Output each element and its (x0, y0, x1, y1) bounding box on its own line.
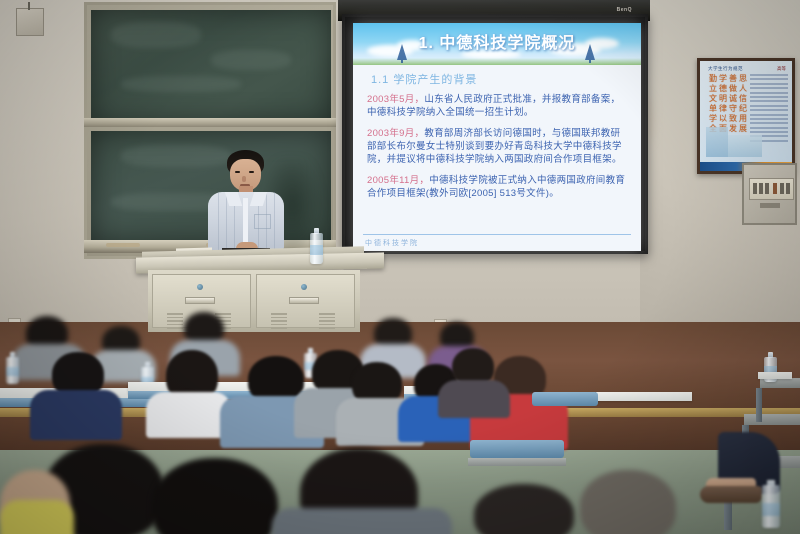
breaker-row (749, 178, 794, 200)
poster-heading-right: 高等 (777, 66, 786, 72)
blackboard-upper-panel (91, 10, 331, 123)
desk-surface (596, 392, 692, 401)
lock-icon (301, 284, 307, 290)
slide-body: 2003年5月，山东省人民政府正式批准，并报教育部备案，中德科技学院纳入全国统一… (367, 93, 629, 208)
poster-building-graphic (728, 135, 762, 157)
lectern-cabinet (148, 270, 360, 332)
chair-frame (468, 458, 566, 466)
door-handle[interactable] (185, 297, 215, 304)
foreground-head (580, 470, 676, 534)
lectern-door-right[interactable] (256, 274, 355, 328)
sandal (700, 486, 762, 503)
slide-divider (363, 234, 631, 235)
panel-label (760, 203, 780, 208)
foreground-torso (272, 508, 452, 534)
foreground-torso (0, 500, 74, 534)
blackboard-middle-rail (84, 118, 336, 127)
chair-back (470, 440, 564, 458)
poster-text-column (750, 74, 788, 144)
door-handle[interactable] (289, 297, 319, 304)
paragraph-date: 2003年9月， (367, 128, 424, 139)
classroom-photo: BenQ 1. 中德科技学院概况 1.1 学院产生的背景 2003年5月，山东省… (0, 0, 800, 534)
audience-torso (30, 390, 122, 440)
slide-banner: 1. 中德科技学院概况 (353, 23, 641, 65)
slide-footer: 中德科技学院 (365, 238, 419, 248)
presenter (200, 150, 292, 262)
desk-surface (744, 414, 800, 425)
paragraph-date: 2003年5月， (367, 94, 424, 105)
lock-icon (197, 284, 203, 290)
presenter-shirt-pocket (254, 214, 271, 229)
audience-torso (438, 380, 510, 418)
slide-paragraph: 2003年5月，山东省人民政府正式批准，并报教育部备案，中德科技学院纳入全国统一… (367, 93, 629, 119)
poster-building-graphic (706, 127, 728, 157)
slide-subtitle: 1.1 学院产生的背景 (371, 71, 477, 87)
foreground-head (474, 484, 574, 534)
paragraph-date: 2005年11月， (367, 175, 429, 186)
poster-heading: 大学生行为规范 (708, 66, 743, 72)
water-bottle[interactable] (6, 352, 19, 384)
water-bottle[interactable] (310, 228, 323, 264)
electrical-panel-box[interactable] (742, 163, 797, 225)
presentation-slide: 1. 中德科技学院概况 1.1 学院产生的背景 2003年5月，山东省人民政府正… (353, 23, 641, 251)
slide-paragraph: 2005年11月，中德科技学院被正式纳入中德两国政府间教育合作项目框架(教外司欧… (367, 174, 629, 200)
water-bottle[interactable] (762, 480, 780, 528)
projector-brand-label: BenQ (617, 7, 632, 13)
wall-speaker-box (16, 8, 44, 36)
slide-paragraph: 2003年9月，教育部周济部长访问德国时，与德国联邦教研部部长布尔曼女士特别谈到… (367, 127, 629, 166)
projection-screen: 1. 中德科技学院概况 1.1 学院产生的背景 2003年5月，山东省人民政府正… (342, 14, 648, 254)
book-stack (758, 372, 792, 379)
chair-back (532, 392, 598, 406)
slide-title: 1. 中德科技学院概况 (353, 29, 641, 53)
wall-poster: 大学生行为规范 高等 勤学善思 立德做人 文明诚信 单律守纪 学以致用 全面发展 (697, 58, 795, 174)
